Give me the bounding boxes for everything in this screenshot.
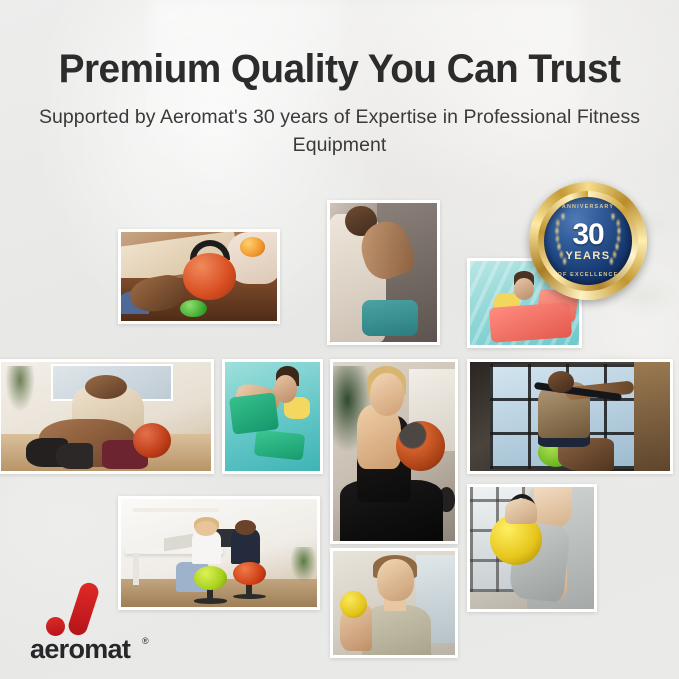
registered-trademark-icon: ®: [142, 636, 149, 646]
collage-tile-yellow-ball-hold: [330, 548, 458, 658]
badge-face: ANNIVERSARY 30 YEARS OF EXCELLENCE: [544, 197, 632, 285]
page-subtitle: Supported by Aeromat's 30 years of Exper…: [0, 104, 679, 159]
collage-tile-kettlebell-mat: [118, 229, 280, 324]
collage-tile-pool-green-board: [222, 359, 323, 474]
logo-slash-mark-icon: [66, 580, 101, 637]
collage-tile-squat-medball: [330, 359, 458, 544]
photo-yellow-kettlebell: [470, 487, 594, 609]
logo-wordmark: aeromat: [30, 636, 130, 663]
photo-kettlebell-mat: [121, 232, 277, 321]
photo-foam-roller: [330, 203, 437, 342]
photo-yellow-ball-hold: [333, 551, 455, 655]
heading-block: Premium Quality You Can Trust Supported …: [0, 0, 679, 160]
aeromat-logo: aeromat ®: [30, 582, 180, 658]
collage-tile-foam-roller: [327, 200, 440, 345]
badge-number: 30: [572, 220, 603, 250]
collage-tile-resistance-band: [467, 359, 673, 474]
photo-pool-green-board: [225, 362, 320, 471]
badge-gold-ring: ANNIVERSARY 30 YEARS OF EXCELLENCE: [538, 191, 638, 291]
badge-unit-label: YEARS: [566, 251, 611, 262]
photo-squat-medball: [333, 362, 455, 541]
collage-tile-yellow-kettlebell: [467, 484, 597, 612]
photo-resistance-band: [470, 362, 670, 471]
page-title: Premium Quality You Can Trust: [10, 48, 669, 90]
collage-tile-seated-core: [0, 359, 214, 474]
badge-arc-top-text: ANNIVERSARY: [544, 204, 632, 210]
anniversary-badge: ANNIVERSARY 30 YEARS OF EXCELLENCE: [529, 182, 647, 300]
photo-seated-core: [1, 362, 211, 471]
badge-arc-bottom-text: OF EXCELLENCE: [544, 272, 632, 278]
